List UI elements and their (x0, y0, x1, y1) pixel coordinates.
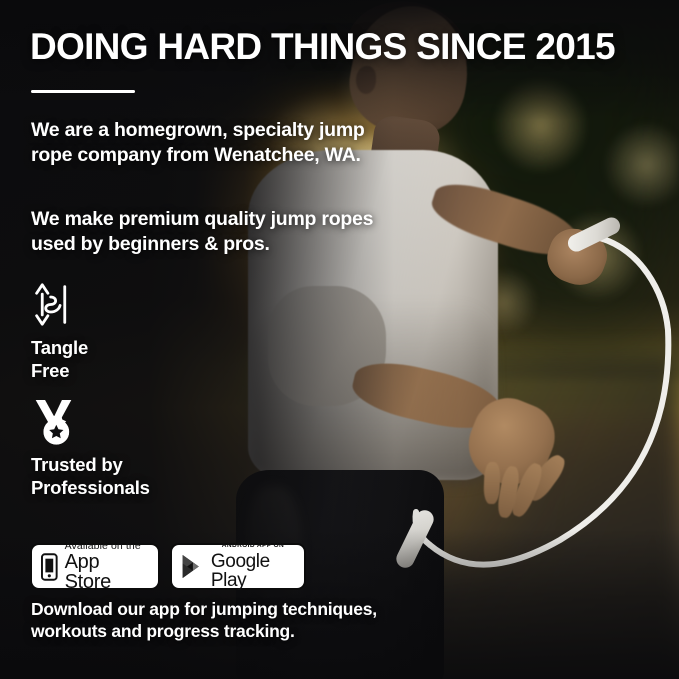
intro-paragraph: We are a homegrown, specialty jump rope … (31, 118, 376, 169)
play-triangle-icon (181, 552, 204, 581)
cta-text: Download our app for jumping techniques,… (31, 598, 391, 643)
iphone-icon (41, 553, 58, 581)
app-store-badge-small: Available on the (65, 541, 149, 552)
google-play-badge-text: ANDROID APP ON Google Play (211, 543, 295, 590)
google-play-badge-small: ANDROID APP ON (211, 543, 295, 550)
feature-label: Trusted by Professionals (31, 454, 150, 499)
app-store-badge[interactable]: Available on the App Store (30, 543, 160, 590)
app-store-badge-big: App Store (65, 552, 149, 592)
headline: DOING HARD THINGS SINCE 2015 (30, 28, 650, 67)
content-layer: DOING HARD THINGS SINCE 2015 We are a ho… (0, 0, 679, 679)
app-store-badge-text: Available on the App Store (65, 541, 149, 593)
google-play-badge[interactable]: ANDROID APP ON Google Play (170, 543, 306, 590)
promo-image: DOING HARD THINGS SINCE 2015 We are a ho… (0, 0, 679, 679)
product-paragraph: We make premium quality jump ropes used … (31, 207, 376, 258)
feature-trusted-by-professionals: Trusted by Professionals (31, 398, 150, 499)
feature-label: Tangle Free (31, 337, 88, 382)
app-store-badges: Available on the App Store ANDROID APP O… (30, 543, 306, 590)
medal-icon (31, 398, 76, 445)
headline-divider (31, 90, 135, 93)
google-play-badge-big: Google Play (211, 552, 295, 590)
feature-tangle-free: Tangle Free (31, 281, 88, 382)
tangle-free-icon (31, 281, 76, 328)
